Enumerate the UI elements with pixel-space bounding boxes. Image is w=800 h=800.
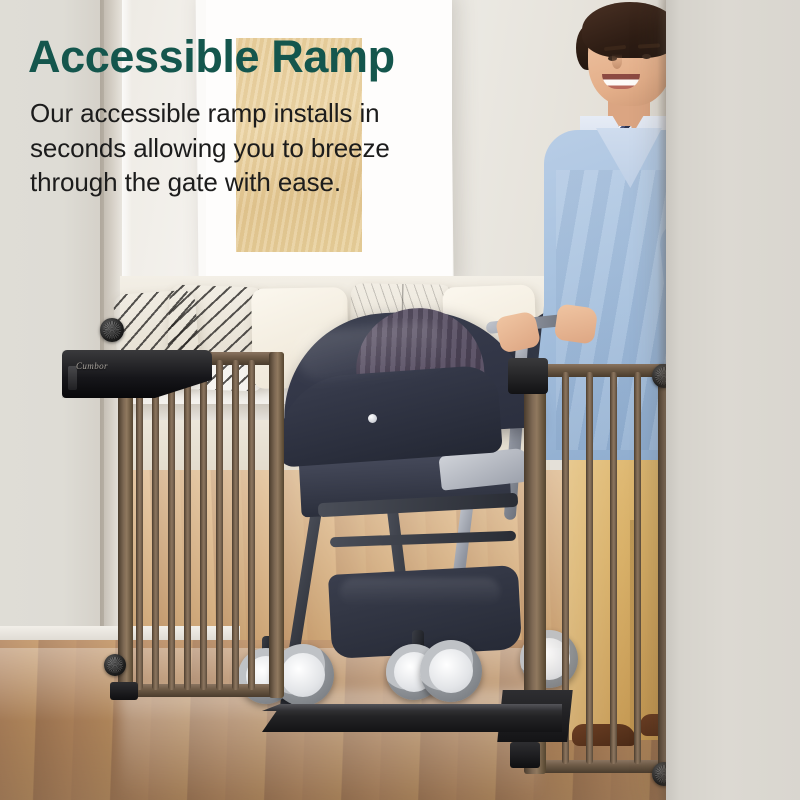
- gate-door-foot: [110, 682, 138, 700]
- gate-hinge-post: [118, 352, 133, 698]
- gate-bar: [200, 360, 207, 690]
- basket-highlight: [340, 578, 500, 606]
- mount-knob-top-left[interactable]: [100, 318, 124, 342]
- gate-door-panel[interactable]: [118, 352, 284, 700]
- gate-bar: [232, 360, 239, 690]
- gate-bar: [184, 360, 191, 690]
- description-line: through the gate with ease.: [30, 165, 500, 200]
- canopy-snap-button: [368, 414, 377, 423]
- mount-knob-bottom-left[interactable]: [104, 654, 126, 676]
- extension-bar: [586, 372, 593, 764]
- product-lifestyle-image: Cumbor Accessible Ramp Our accessible ra…: [0, 0, 800, 800]
- gate-bar: [136, 360, 143, 690]
- extension-top-bracket: [508, 358, 548, 394]
- doorway-jamb: [666, 0, 800, 800]
- description-line: Our accessible ramp installs in: [30, 96, 500, 131]
- gate-bar: [248, 360, 255, 690]
- stroller-wheel: [420, 640, 482, 702]
- hand-on-handlebar: [495, 310, 542, 354]
- hand-on-handlebar: [554, 303, 599, 344]
- gate-bar: [216, 360, 223, 690]
- description-line: seconds allowing you to breeze: [30, 131, 500, 166]
- page-title: Accessible Ramp: [28, 33, 548, 80]
- brand-logo: Cumbor: [76, 360, 122, 372]
- extension-bar: [610, 372, 617, 764]
- extension-bottom-bracket: [510, 742, 540, 768]
- gate-bar: [168, 360, 175, 690]
- description-text: Our accessible ramp installs in seconds …: [30, 96, 500, 200]
- seat-cross-rail: [330, 531, 516, 547]
- doorway-edge-shadow: [657, 0, 666, 800]
- gate-latch-post: [269, 352, 284, 698]
- gate-bar: [152, 360, 159, 690]
- ramp-top-surface: [262, 704, 562, 711]
- extension-bar: [634, 372, 641, 764]
